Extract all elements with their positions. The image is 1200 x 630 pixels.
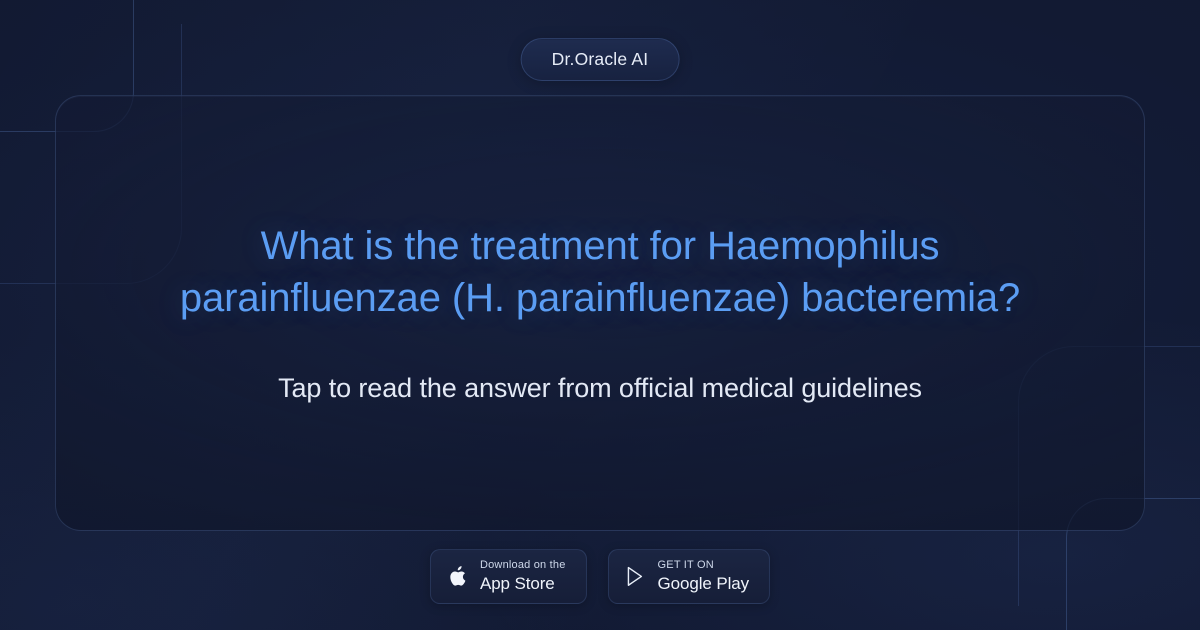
card-subtitle: Tap to read the answer from official med… [278, 371, 922, 406]
google-play-large-label: Google Play [658, 573, 750, 594]
google-play-badge[interactable]: GET IT ON Google Play [608, 549, 771, 604]
question-text: What is the treatment for Haemophilus pa… [155, 220, 1045, 324]
app-store-large-label: App Store [480, 573, 566, 594]
google-play-icon [626, 565, 646, 589]
store-badge-row: Download on the App Store GET IT ON Goog… [430, 549, 770, 604]
google-play-text: GET IT ON Google Play [658, 559, 750, 594]
apple-icon [448, 565, 468, 589]
brand-name: Dr.Oracle AI [552, 49, 649, 70]
app-store-badge[interactable]: Download on the App Store [430, 549, 587, 604]
question-card[interactable]: What is the treatment for Haemophilus pa… [55, 95, 1145, 531]
app-store-small-label: Download on the [480, 559, 566, 572]
brand-badge: Dr.Oracle AI [521, 38, 680, 81]
google-play-small-label: GET IT ON [658, 559, 750, 572]
app-store-text: Download on the App Store [480, 559, 566, 594]
